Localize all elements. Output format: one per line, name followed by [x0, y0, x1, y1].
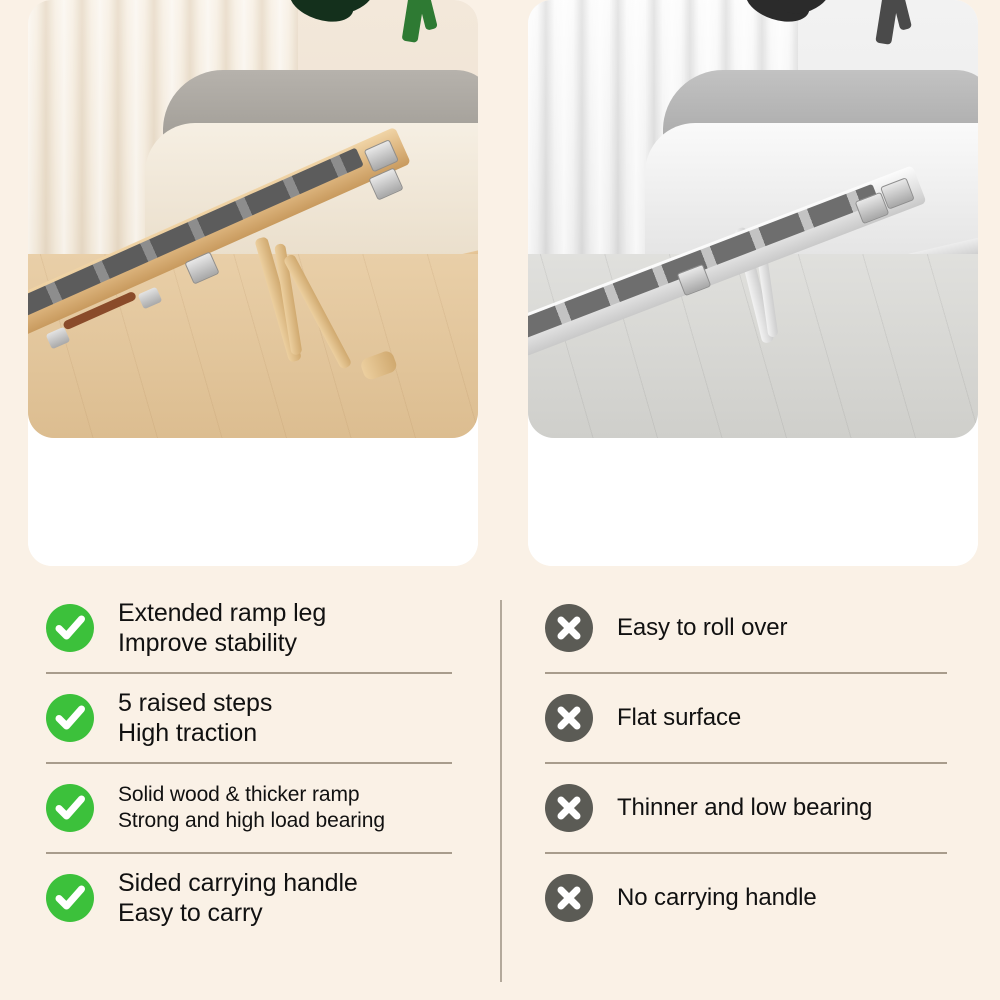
list-item[interactable]: Thinner and low bearing [545, 764, 947, 852]
list-item[interactable]: Sided carrying handle Easy to carry [46, 854, 452, 942]
cons-column: Easy to roll over Flat surface Thinner a… [545, 584, 947, 942]
product-card-right [528, 0, 978, 566]
feature-label: Flat surface [617, 703, 741, 732]
cross-icon [545, 604, 593, 652]
check-icon [46, 874, 94, 922]
list-item[interactable]: 5 raised steps High traction [46, 674, 452, 762]
product-card-left [28, 0, 478, 566]
feature-label: Solid wood & thicker ramp Strong and hig… [118, 782, 385, 833]
card-blank-area-left [28, 438, 478, 566]
column-divider [500, 600, 502, 982]
feature-label: 5 raised steps High traction [118, 688, 272, 749]
product-photo-plastic-ramp [528, 0, 978, 438]
feature-label: Thinner and low bearing [617, 793, 872, 822]
check-icon [46, 784, 94, 832]
list-item[interactable]: Flat surface [545, 674, 947, 762]
infographic-page: Extended ramp leg Improve stability 5 ra… [0, 0, 1000, 1000]
feature-label: Sided carrying handle Easy to carry [118, 868, 358, 929]
feature-label: Extended ramp leg Improve stability [118, 598, 326, 659]
pros-column: Extended ramp leg Improve stability 5 ra… [46, 584, 452, 942]
cross-icon [545, 874, 593, 922]
card-blank-area-right [528, 438, 978, 566]
product-photo-wooden-ramp [28, 0, 478, 438]
list-item[interactable]: No carrying handle [545, 854, 947, 942]
check-icon [46, 604, 94, 652]
list-item[interactable]: Easy to roll over [545, 584, 947, 672]
cross-icon [545, 784, 593, 832]
list-item[interactable]: Extended ramp leg Improve stability [46, 584, 452, 672]
cross-icon [545, 694, 593, 742]
check-icon [46, 694, 94, 742]
feature-label: No carrying handle [617, 883, 817, 912]
feature-label: Easy to roll over [617, 613, 787, 642]
list-item[interactable]: Solid wood & thicker ramp Strong and hig… [46, 764, 452, 852]
